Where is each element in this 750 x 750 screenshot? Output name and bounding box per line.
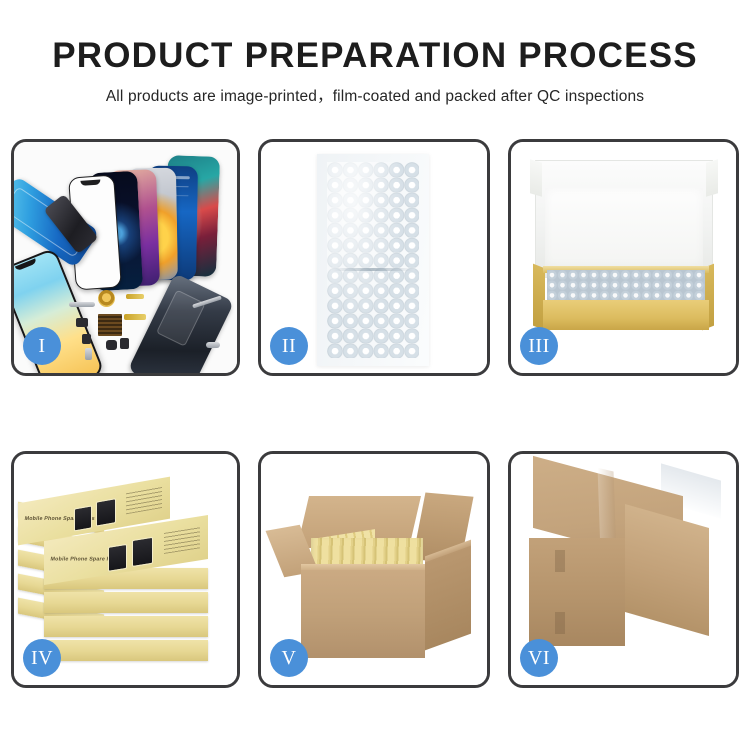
carton-side-panel — [425, 546, 471, 651]
pouch-seam — [331, 268, 415, 271]
retail-box-fr-3 — [44, 616, 208, 637]
step-badge-3: III — [520, 327, 558, 365]
part-speaker-coil — [98, 290, 115, 307]
step-badge-5: V — [270, 639, 308, 677]
retail-box-specs-1 — [126, 486, 162, 514]
retail-box-specs-2 — [164, 526, 200, 554]
step-panel-4: Mobile Phone Spare Parts Mobile Phone Sp… — [11, 451, 240, 688]
part-flex-cable-a — [126, 294, 144, 299]
retail-box-artwork-2a — [108, 544, 127, 572]
retail-box-fr-4 — [44, 640, 208, 661]
sealed-carton-front-panel — [529, 538, 625, 646]
retail-box-artwork-1b — [96, 498, 116, 527]
mailer-bubble-contents — [547, 270, 705, 302]
step-panel-3: III — [508, 139, 739, 376]
part-button-small-b — [82, 334, 91, 344]
page-header: PRODUCT PREPARATION PROCESS All products… — [0, 0, 750, 130]
part-camera-module — [106, 340, 117, 350]
page-title: PRODUCT PREPARATION PROCESS — [0, 36, 750, 76]
retail-box-artwork-1a — [74, 505, 92, 531]
step-badge-6: VI — [520, 639, 558, 677]
step-panel-6: VI — [508, 451, 739, 688]
step-badge-4: IV — [23, 639, 61, 677]
part-connector — [120, 338, 129, 349]
mailer-foam-sheet — [545, 188, 703, 266]
step-panel-2: II — [258, 139, 490, 376]
part-flex-cable-b — [124, 314, 146, 320]
bubble-wrap-pouch — [317, 154, 429, 366]
sealed-carton-seam-bottom — [555, 612, 565, 634]
sealed-carton-seam-top — [555, 550, 565, 572]
step-panel-1: I — [11, 139, 240, 376]
part-metal-strip — [69, 302, 95, 307]
bubble-highlight — [327, 162, 419, 358]
retail-box-fr-2 — [44, 592, 208, 613]
retail-box-artwork-2b — [132, 537, 153, 567]
page-subtitle: All products are image-printed，film-coat… — [0, 84, 750, 106]
part-chip-array — [98, 314, 122, 336]
step-panel-5: V — [258, 451, 490, 688]
step-badge-1: I — [23, 327, 61, 365]
part-button-small-a — [76, 318, 88, 327]
step-badge-2: II — [270, 327, 308, 365]
carton-front-panel — [301, 570, 425, 658]
part-sim-tray — [85, 348, 92, 360]
part-screw-set — [206, 342, 220, 348]
mailer-box-front — [543, 300, 709, 330]
process-step-grid: I II III — [0, 134, 750, 694]
